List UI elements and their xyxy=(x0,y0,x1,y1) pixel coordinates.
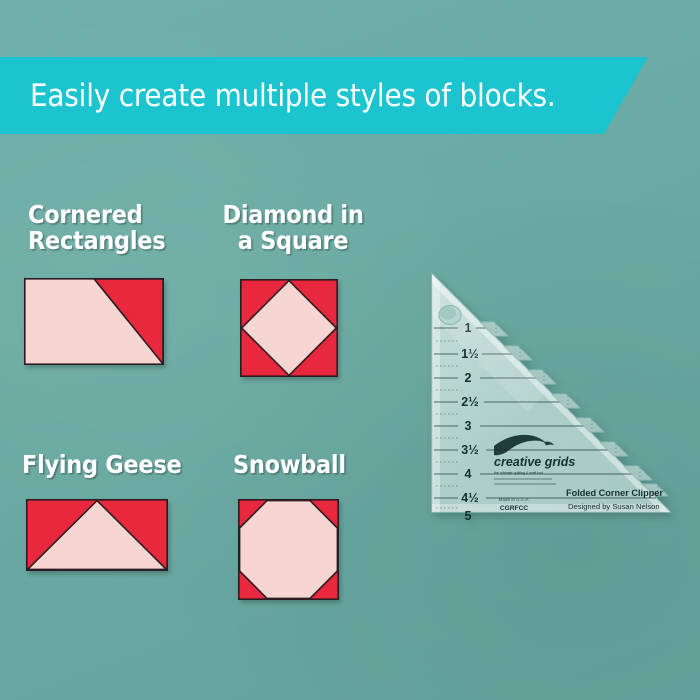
ruler-designer-credit: Designed by Susan Nelson xyxy=(568,502,660,511)
block-label-cornered-rectangles: Cornered Rectangles xyxy=(28,202,165,254)
block-label-snowball: Snowball xyxy=(233,452,346,478)
screenshot-canvas: Easily create multiple styles of blocks.… xyxy=(0,0,700,700)
ruler-scale-label: 3 xyxy=(465,419,472,433)
ruler-scale-label: 4½ xyxy=(461,491,478,505)
quilt-block-snowball xyxy=(238,499,339,600)
ruler-scale-label: 5 xyxy=(465,509,472,523)
folded-corner-clipper-ruler: 1 1½ 2 2½ 3 3½ 4 4½ 5 xyxy=(418,262,680,524)
ruler-scale-label: 4 xyxy=(465,467,472,481)
headline-text: Easily create multiple styles of blocks. xyxy=(30,74,630,118)
ruler-scale-label: 3½ xyxy=(461,443,478,457)
quilt-block-diamond-in-a-square xyxy=(240,279,338,377)
block-label-diamond-in-a-square: Diamond in a Square xyxy=(212,202,374,254)
brand-wordmark: creative grids xyxy=(494,455,575,469)
ruler-product-code: CGRFCC xyxy=(500,505,528,512)
quilt-block-flying-geese xyxy=(26,499,168,571)
ruler-made-in: Made in U.S.A. xyxy=(499,497,530,502)
ruler-product-name: Folded Corner Clipper xyxy=(566,488,663,498)
quilt-block-cornered-rectangles xyxy=(24,278,164,365)
block-label-flying-geese: Flying Geese xyxy=(22,452,181,478)
ruler-scale-label: 2½ xyxy=(461,395,478,409)
brand-tagline: the ultimate quilting & craft tool xyxy=(494,471,543,475)
ruler-scale-label: 2 xyxy=(465,371,472,385)
